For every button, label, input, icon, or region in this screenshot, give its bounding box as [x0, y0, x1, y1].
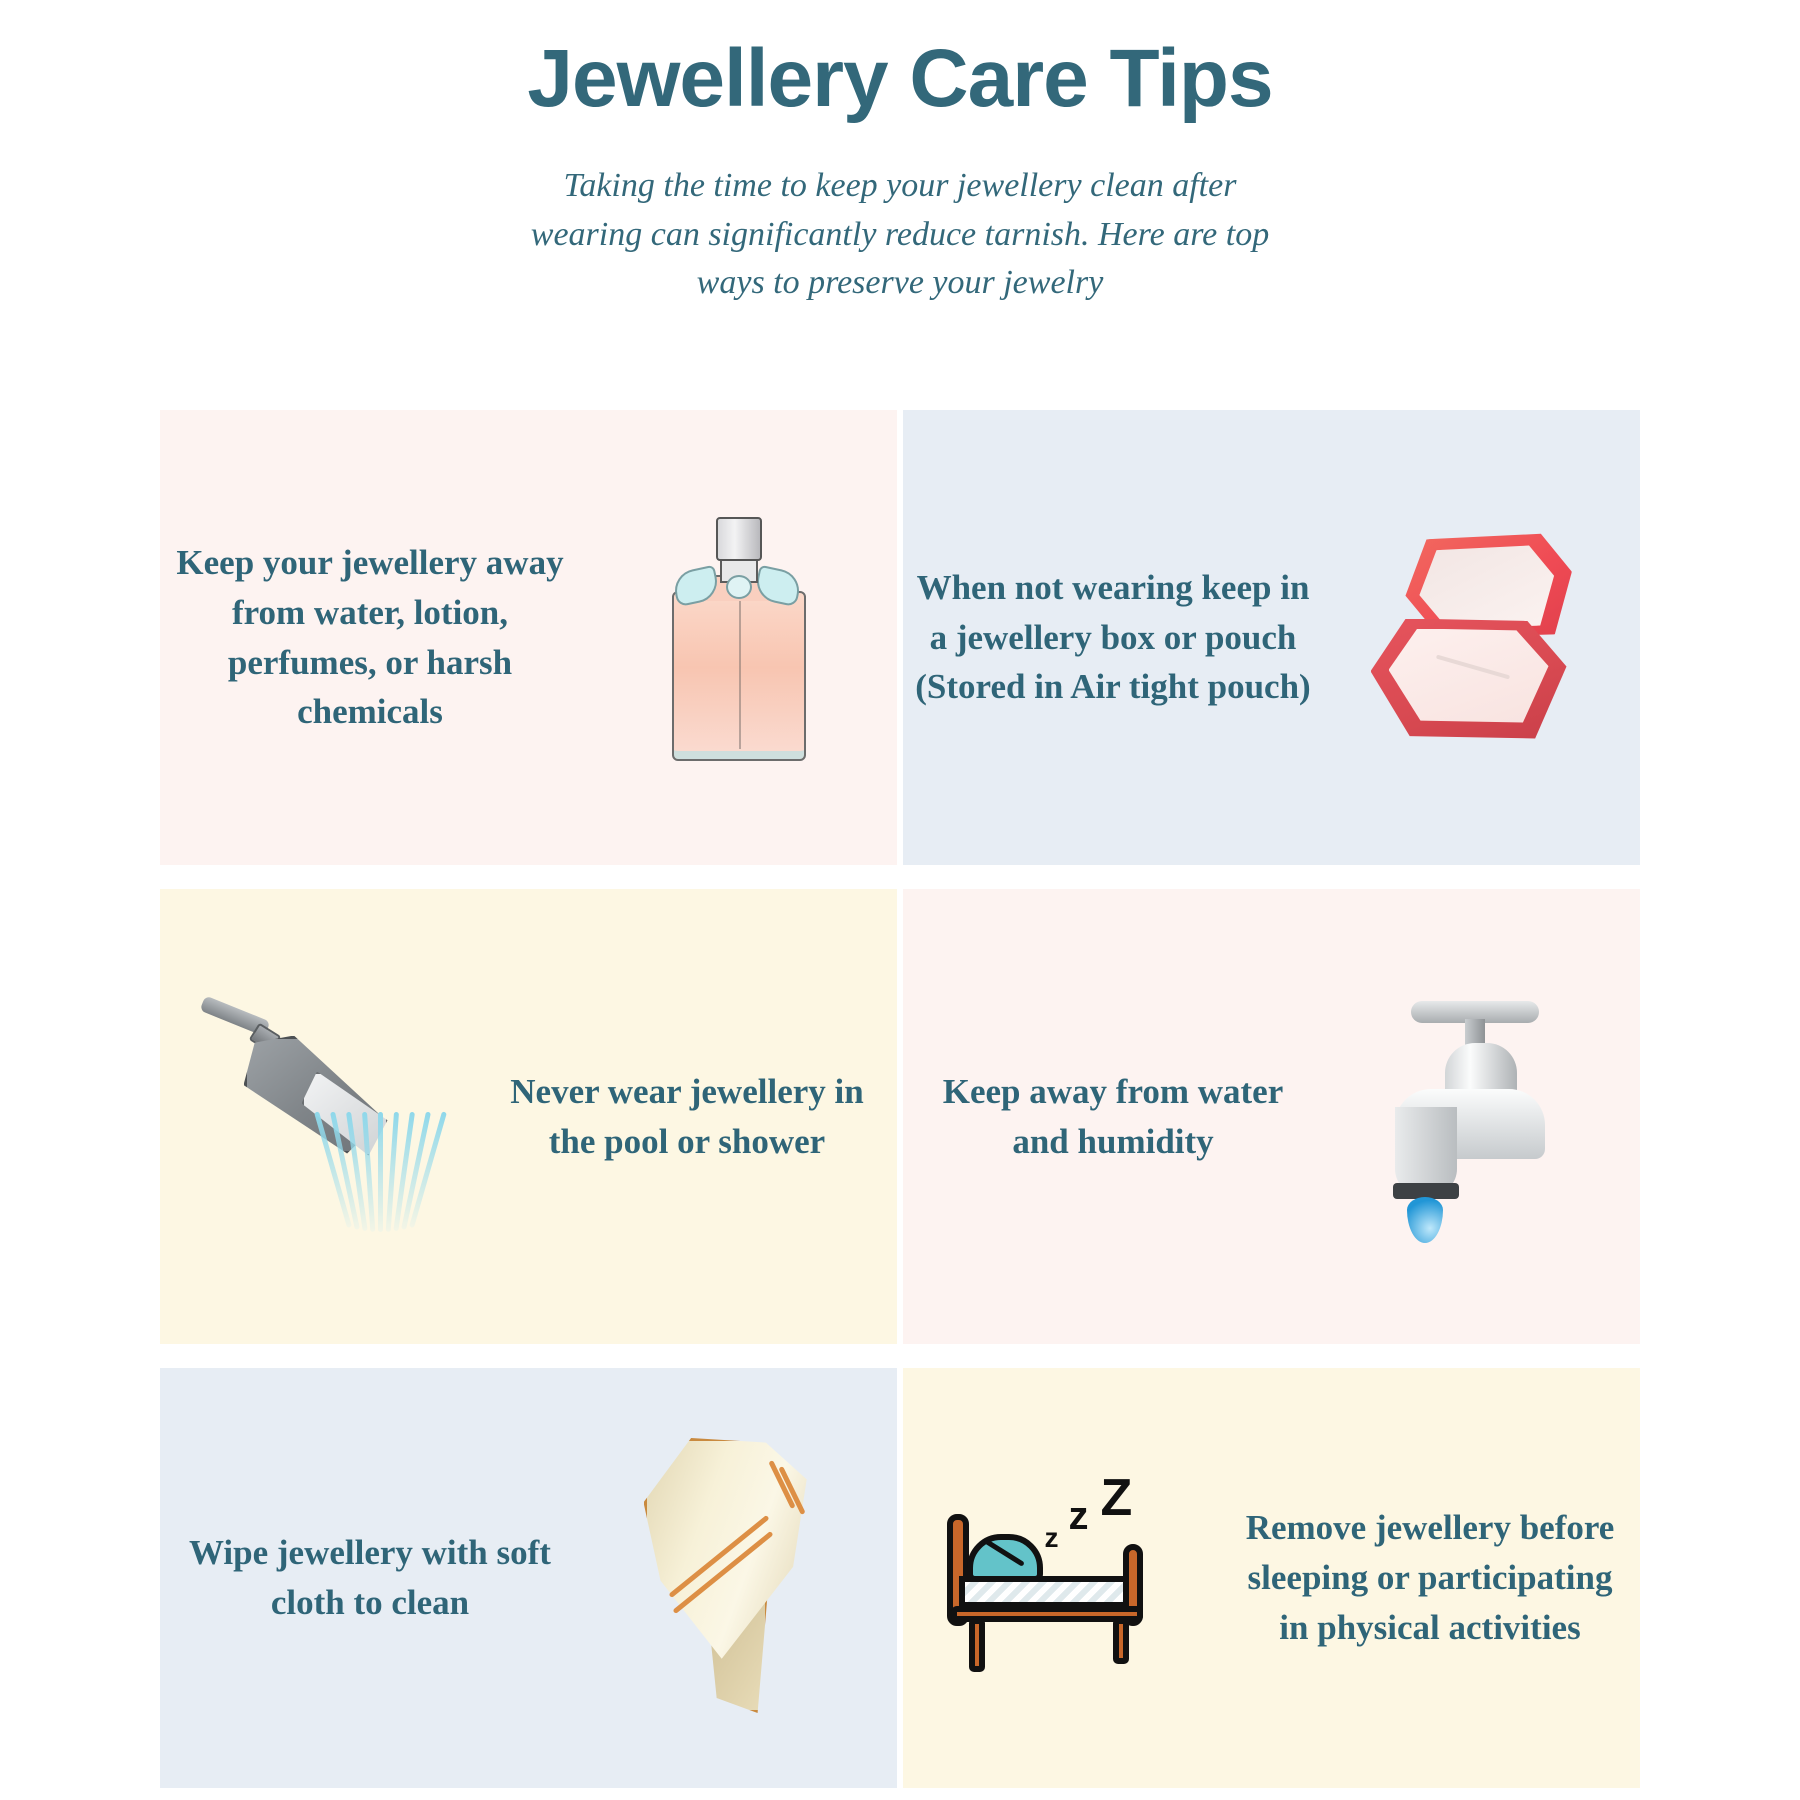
page-subtitle: Taking the time to keep your jewellery c…: [510, 162, 1290, 307]
perfume-body: [672, 591, 806, 761]
cloth-body: [644, 1438, 814, 1668]
tip-card-store-in-box: When not wearing keep in a jewellery box…: [903, 410, 1640, 865]
bed-leg-right: [1113, 1618, 1129, 1664]
bed-leg-left: [969, 1618, 985, 1672]
shower-head-icon: [194, 1002, 444, 1232]
cloth-icon: [644, 1438, 834, 1718]
infographic-page: Jewellery Care Tips Taking the time to k…: [0, 0, 1800, 1800]
tip-text: Keep your jewellery away from water, lot…: [160, 538, 580, 737]
perfume-bottle-icon: [664, 513, 814, 763]
tip-illustration: [1323, 889, 1640, 1344]
tip-card-avoid-humidity: Keep away from water and humidity: [903, 889, 1640, 1344]
perfume-cap: [716, 517, 762, 561]
ring-box-icon: [1367, 533, 1597, 743]
faucet-icon: [1367, 997, 1597, 1237]
tip-illustration: z z Z: [903, 1368, 1220, 1788]
faucet-spout-arm: [1395, 1107, 1457, 1195]
header: Jewellery Care Tips Taking the time to k…: [0, 0, 1800, 307]
tip-card-wipe-with-cloth: Wipe jewellery with soft cloth to clean: [160, 1368, 897, 1788]
bed-mattress: [959, 1576, 1135, 1608]
shower-water-spray: [314, 1112, 464, 1232]
sleep-z-large: Z: [1101, 1468, 1133, 1528]
tip-illustration: [160, 889, 477, 1344]
tip-text: Remove jewellery before sleeping or part…: [1220, 1503, 1640, 1652]
tip-card-remove-before-sleep: Remove jewellery before sleeping or part…: [903, 1368, 1640, 1788]
page-title: Jewellery Care Tips: [0, 30, 1800, 128]
tip-illustration: [1323, 410, 1640, 865]
perfume-bow-knot: [726, 575, 752, 599]
bed-sleep-icon: z z Z: [937, 1478, 1187, 1678]
tips-grid: Keep your jewellery away from water, lot…: [160, 410, 1640, 1788]
faucet-handle: [1411, 1001, 1539, 1023]
tip-card-no-pool-shower: Never wear jewellery in the pool or show…: [160, 889, 897, 1344]
tip-text: When not wearing keep in a jewellery box…: [903, 563, 1323, 712]
tip-card-avoid-chemicals: Keep your jewellery away from water, lot…: [160, 410, 897, 865]
sleep-z-small: z: [1045, 1522, 1059, 1554]
tip-text: Never wear jewellery in the pool or show…: [477, 1067, 897, 1166]
water-droplet-icon: [1407, 1197, 1443, 1243]
tip-text: Wipe jewellery with soft cloth to clean: [160, 1528, 580, 1627]
sleep-z-medium: z: [1069, 1494, 1089, 1539]
tip-text: Keep away from water and humidity: [903, 1067, 1323, 1166]
tip-illustration: [580, 410, 897, 865]
bed-pillow: [967, 1534, 1043, 1582]
tip-illustration: [580, 1368, 897, 1788]
